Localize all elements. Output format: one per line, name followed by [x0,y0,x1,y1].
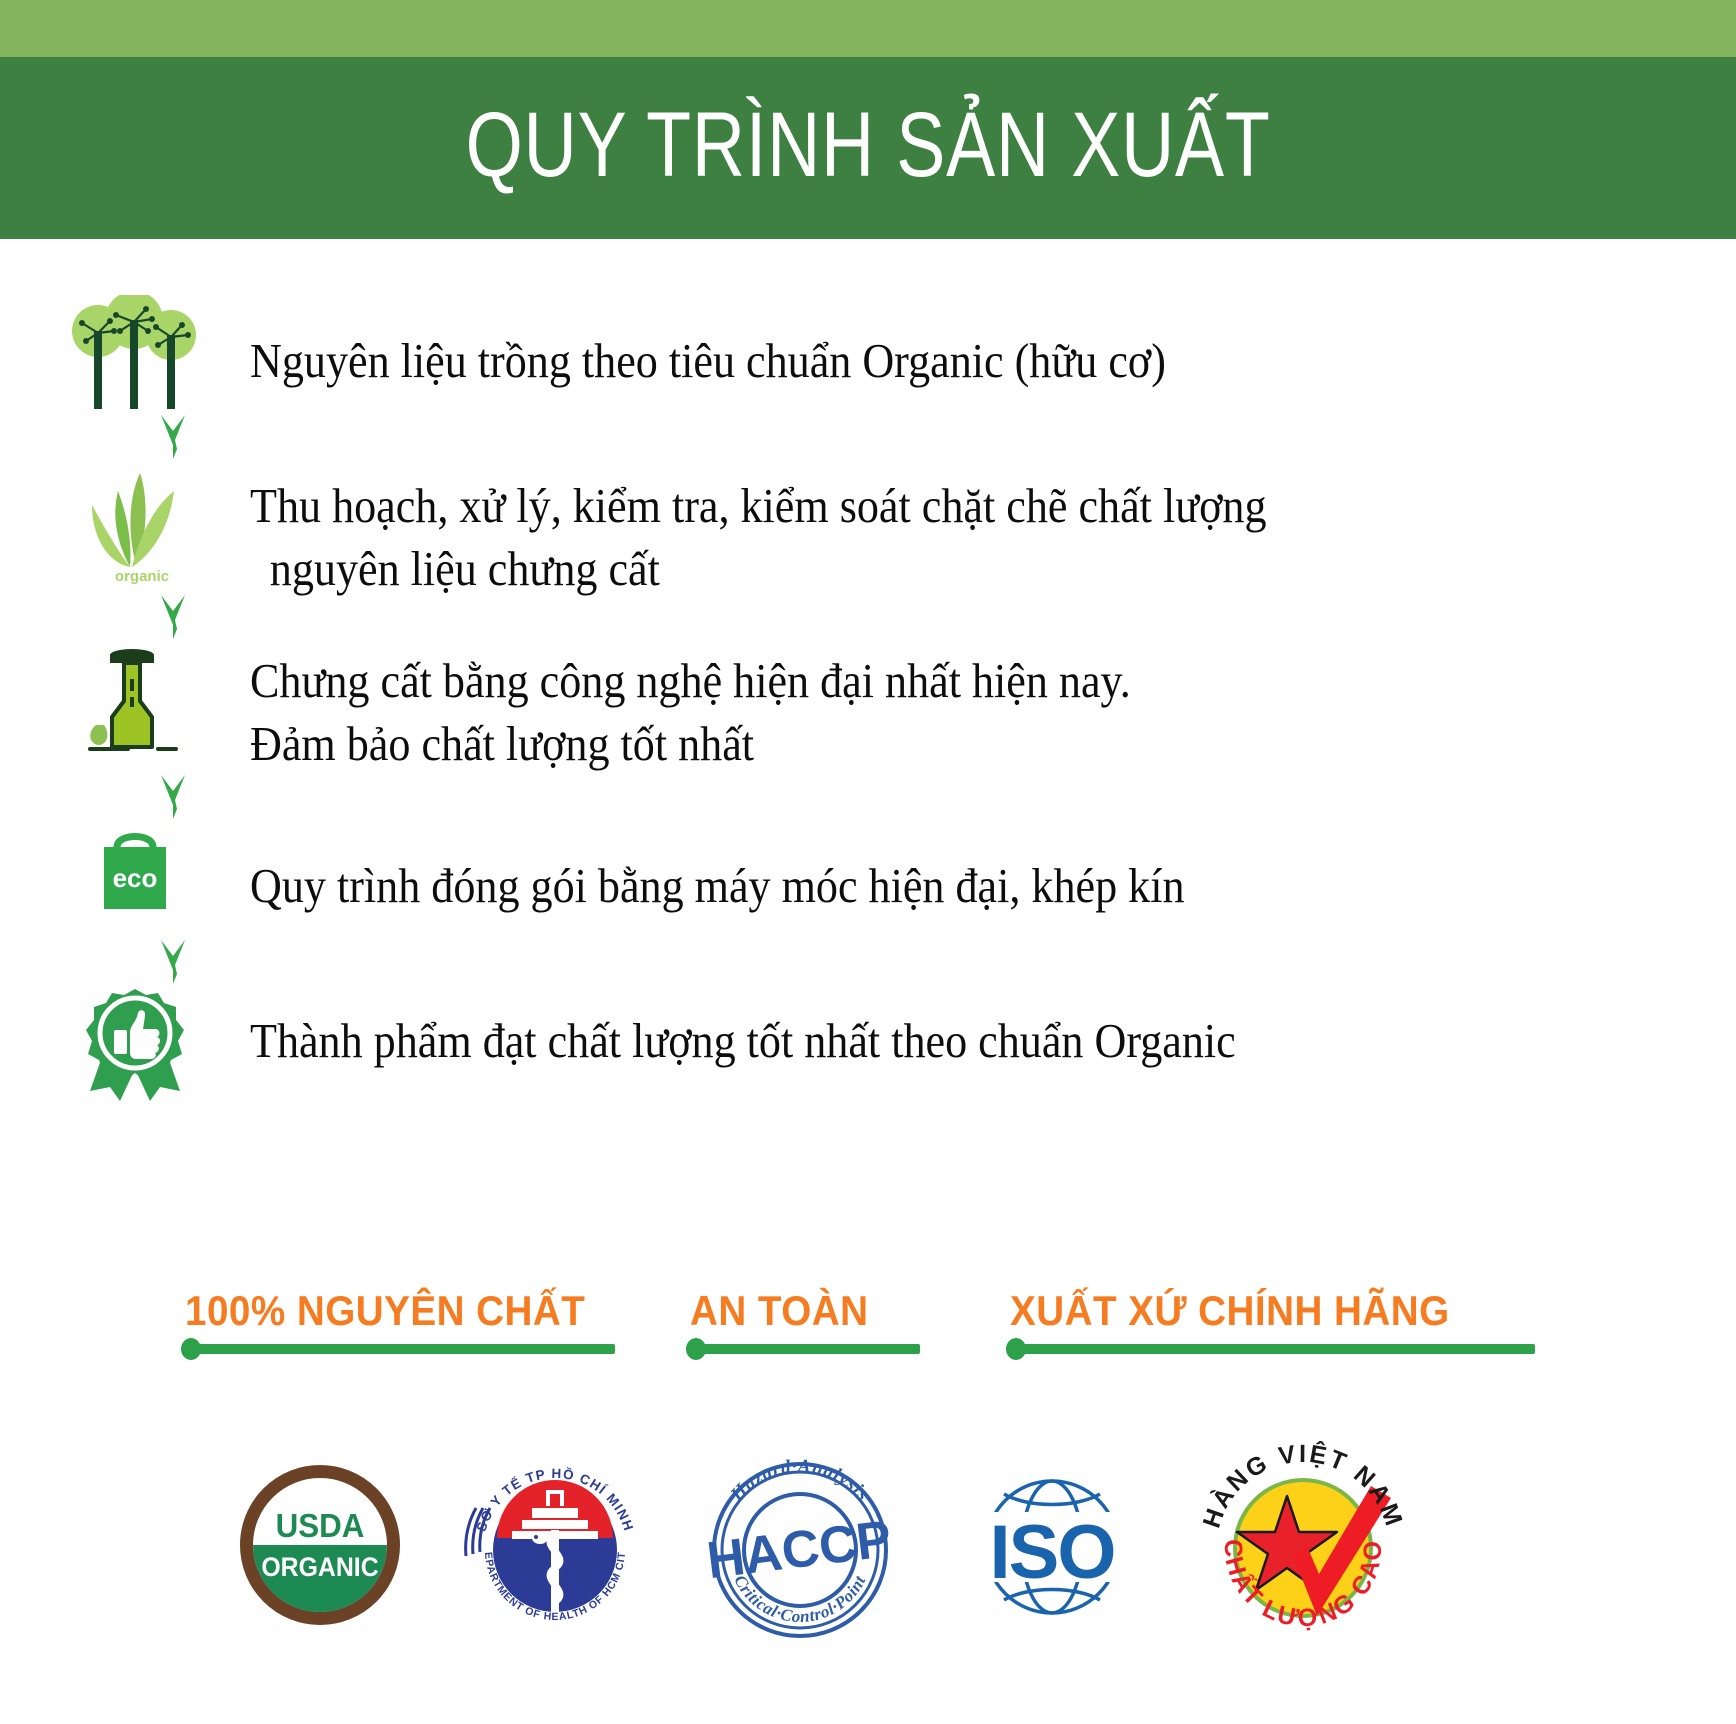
iso-center-label: ISO [990,1510,1115,1595]
iso-logo: ISO [950,1460,1155,1635]
step-1-line-1: Nguyên liệu trồng theo tiêu chuẩn Organi… [250,333,1166,388]
step-1-text: Nguyên liệu trồng theo tiêu chuẩn Organi… [250,330,1166,393]
eco-bag-label: eco [113,863,158,893]
hvnclc-seal: HÀNG VIỆT NAM CHẤT LƯỢNG CAO [1195,1440,1410,1645]
feature-3-label: XUẤT XỨ CHÍNH HÃNG [1010,1290,1493,1332]
step-2-text: Thu hoạch, xử lý, kiểm tra, kiểm soát ch… [250,475,1267,600]
feature-highlights: 100% NGUYÊN CHẤT AN TOÀN XUẤT XỨ CHÍNH H… [0,1290,1736,1400]
eco-bag-icon: eco [70,825,200,935]
hcm-health-department-badge: SỞ Y TẾ TP HỒ CHÍ MINH DEPARTMENT OF HEA… [460,1450,650,1640]
step-1-icon-wrap [60,295,210,415]
organic-leaves-label: organic [115,568,169,585]
step-2-icon-wrap: organic [60,465,210,585]
chevron-down-icon [159,775,187,819]
arrow-down-4 [159,940,187,984]
step-2-line-1: Thu hoạch, xử lý, kiểm tra, kiểm soát ch… [250,478,1267,533]
oil-bottle-icon [70,643,200,768]
step-4-text: Quy trình đóng gói bằng máy móc hiện đại… [250,855,1185,918]
step-5-line-1: Thành phẩm đạt chất lượng tốt nhất theo … [250,1013,1236,1068]
arrow-down-3 [159,775,187,819]
step-4-line-1: Quy trình đóng gói bằng máy móc hiện đại… [250,858,1185,913]
feature-3: XUẤT XỨ CHÍNH HÃNG [1010,1290,1535,1354]
usda-organic-badge: USDA ORGANIC [240,1465,400,1625]
step-3-icon-wrap [60,645,210,765]
feature-1: 100% NGUYÊN CHẤT [185,1290,615,1354]
certification-badges: USDA ORGANIC [0,1440,1736,1670]
usda-bottom-label: ORGANIC [258,1552,381,1583]
step-4-icon-wrap: eco [60,825,210,935]
infographic-page: QUY TRÌNH SẢN XUẤT [0,0,1736,1724]
feature-2: AN TOÀN [690,1290,920,1354]
haccp-top-label: Hazard·Analysis [726,1456,874,1506]
feature-1-rule [185,1344,615,1354]
feature-3-rule [1010,1344,1535,1354]
chevron-down-icon [159,595,187,639]
step-5-text: Thành phẩm đạt chất lượng tốt nhất theo … [250,1010,1236,1073]
step-3-line-1: Chưng cất bằng công nghệ hiện đại nhất h… [250,653,1131,708]
step-3-line-2: Đảm bảo chất lượng tốt nhất [250,713,1131,776]
process-steps: Nguyên liệu trồng theo tiêu chuẩn Organi… [0,250,1736,1130]
arrow-down-2 [159,595,187,639]
step-5-icon-wrap [60,985,210,1105]
step-2-line-2: nguyên liệu chưng cất [250,538,1267,601]
feature-2-label: AN TOÀN [690,1290,902,1332]
quality-badge-thumbs-up-icon [70,985,200,1105]
hang-viet-nam-chat-luong-cao-badge: HÀNG VIỆT NAM CHẤT LƯỢNG CAO [1195,1440,1410,1645]
header-top-band [0,0,1736,57]
chevron-down-icon [159,940,187,984]
feature-2-rule [690,1344,920,1354]
organic-leaves-icon: organic [70,465,200,585]
chevron-down-icon [159,415,187,459]
haccp-seal: Hazard·Analysis Critical·Control·Point H… [700,1445,900,1645]
step-3-text: Chưng cất bằng công nghệ hiện đại nhất h… [250,650,1131,775]
header-band: QUY TRÌNH SẢN XUẤT [0,57,1736,239]
usda-ring: USDA ORGANIC [240,1465,400,1625]
page-title: QUY TRÌNH SẢN XUẤT [465,99,1270,191]
hcm-health-seal: SỞ Y TẾ TP HỒ CHÍ MINH DEPARTMENT OF HEA… [460,1450,650,1640]
three-trees-icon [70,295,200,415]
usda-top-label: USDA [256,1507,383,1545]
arrow-down-1 [159,415,187,459]
feature-1-label: 100% NGUYÊN CHẤT [185,1290,581,1332]
iso-badge: ISO [950,1460,1155,1635]
haccp-badge: Hazard·Analysis Critical·Control·Point H… [700,1445,900,1645]
haccp-center-label: HACCP [704,1510,895,1590]
